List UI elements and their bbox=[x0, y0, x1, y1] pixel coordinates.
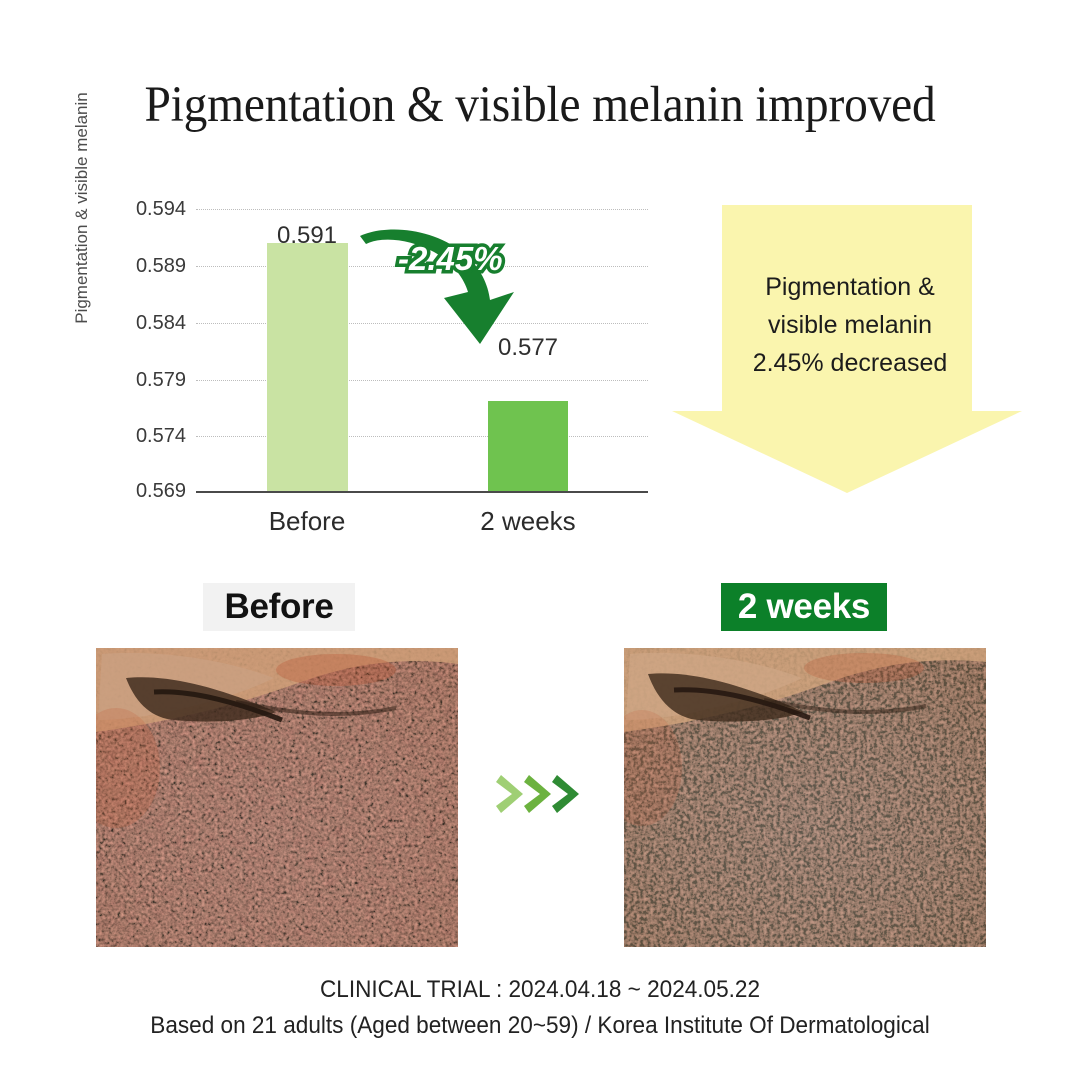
badge-2weeks: 2 weeks bbox=[721, 583, 887, 631]
bar-before bbox=[267, 243, 348, 491]
gridline bbox=[196, 380, 648, 381]
x-axis-line bbox=[196, 491, 648, 493]
callout-line-1: Pigmentation & bbox=[690, 268, 1010, 306]
poster-canvas: Pigmentation & visible melanin improved … bbox=[0, 0, 1080, 1080]
chevron-right-icon-3 bbox=[551, 772, 585, 816]
photo-2weeks bbox=[624, 648, 986, 947]
footer-trial-dates: CLINICAL TRIAL : 2024.04.18 ~ 2024.05.22 bbox=[32, 976, 1047, 1004]
y-tick-label: 0.584 bbox=[120, 312, 186, 335]
gridline bbox=[196, 436, 648, 437]
callout-text: Pigmentation & visible melanin 2.45% dec… bbox=[690, 268, 1010, 382]
footer-trial-details: Based on 21 adults (Aged between 20~59) … bbox=[32, 1012, 1047, 1040]
y-axis-title: Pigmentation & visible melanin bbox=[72, 58, 92, 358]
y-tick-label: 0.569 bbox=[120, 480, 186, 503]
photo-before bbox=[96, 648, 458, 947]
callout-line-2: visible melanin bbox=[690, 306, 1010, 344]
bar-2weeks bbox=[488, 401, 568, 491]
bar-chart: Pigmentation & visible melanin 0.594 0.5… bbox=[0, 0, 680, 560]
x-tick-label-before: Before bbox=[237, 506, 377, 537]
y-tick-label: 0.589 bbox=[120, 255, 186, 278]
y-tick-label: 0.574 bbox=[120, 425, 186, 448]
y-tick-label: 0.594 bbox=[120, 198, 186, 221]
gridline bbox=[196, 209, 648, 210]
callout-line-3: 2.45% decreased bbox=[690, 344, 1010, 382]
y-tick-label: 0.579 bbox=[120, 369, 186, 392]
badge-before: Before bbox=[203, 583, 355, 631]
percent-change-text: -2.45% bbox=[398, 240, 503, 278]
x-tick-label-2weeks: 2 weeks bbox=[458, 506, 598, 537]
